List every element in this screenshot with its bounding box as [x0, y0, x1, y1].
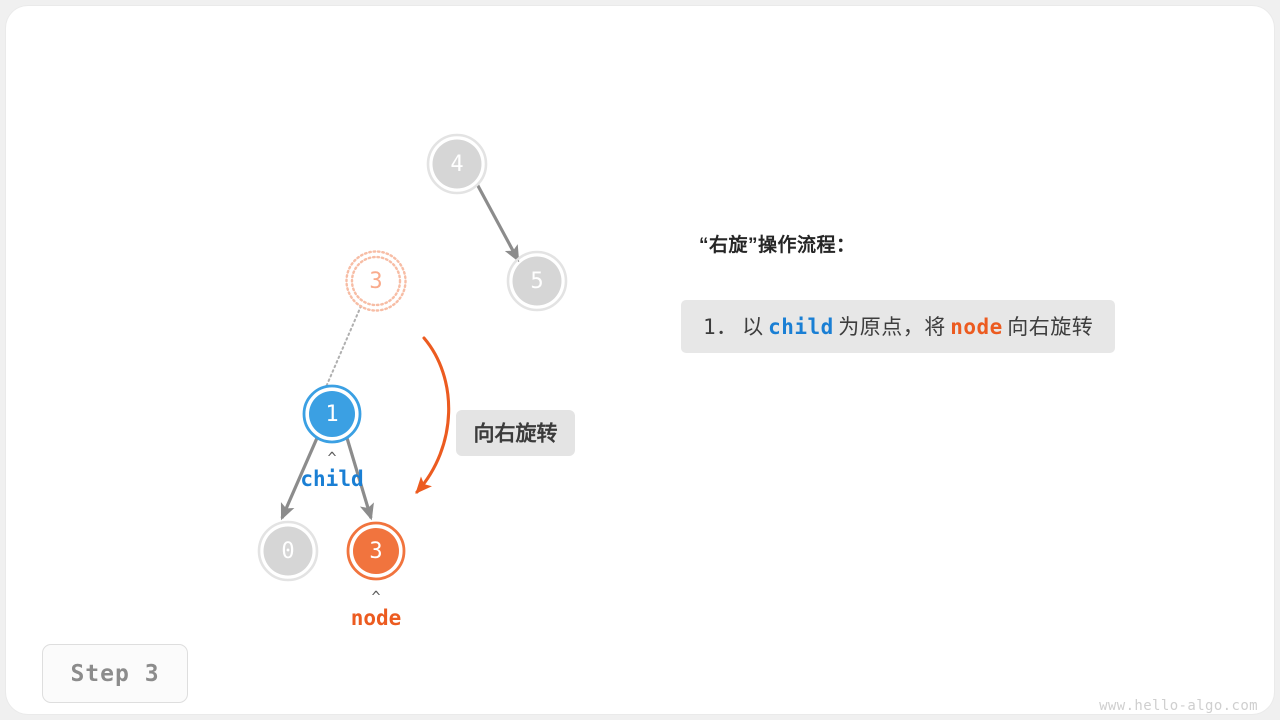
step-indicator-label: Step 3: [70, 661, 159, 687]
tree-node-0-label: 0: [281, 539, 294, 564]
rotation-badge: 向右旋转: [456, 410, 575, 456]
tree-node-4-label: 4: [450, 152, 463, 177]
site-watermark: www.hello-algo.com: [1099, 698, 1258, 714]
diagram-card: 4 5 3 1: [6, 6, 1274, 714]
pointer-node: ^ node: [351, 588, 402, 630]
tree-node-5-label: 5: [530, 269, 543, 294]
panel-title: “右旋”操作流程：: [699, 230, 1239, 257]
rotation-arrow: [417, 338, 449, 492]
step-1-part1: 以: [742, 315, 764, 339]
tree-node-4: 4: [428, 135, 486, 193]
tree-node-ghost-3-label: 3: [369, 269, 382, 294]
tree-node-3-label: 3: [369, 539, 382, 564]
pointer-child-caret-icon: ^: [327, 449, 336, 467]
step-1-keyword-node: node: [950, 315, 1003, 339]
step-1-part3: 向右旋转: [1007, 315, 1093, 339]
tree-node-5: 5: [508, 252, 566, 310]
step-indicator-box: Step 3: [42, 644, 188, 703]
step-1-index: 1．: [703, 315, 738, 339]
pointer-node-caret-icon: ^: [371, 588, 380, 606]
tree-node-1: 1: [304, 386, 360, 442]
tree-node-1-label: 1: [325, 402, 338, 427]
edge-ghost3-to-1: [326, 306, 361, 387]
pointer-node-label: node: [351, 606, 402, 630]
tree-node-ghost-3: 3: [347, 252, 406, 311]
edge-4-to-5: [477, 184, 518, 260]
rotation-badge-label: 向右旋转: [474, 422, 558, 446]
instruction-panel: “右旋”操作流程： 1． 以 child 为原点，将 node 向右旋转: [699, 230, 1239, 257]
tree-diagram-svg: 4 5 3 1: [6, 6, 1274, 714]
step-1-part2: 为原点，将: [838, 315, 946, 339]
pointer-child-label: child: [300, 467, 363, 491]
diagram-stage: 4 5 3 1: [6, 6, 1274, 714]
tree-node-3: 3: [348, 523, 404, 579]
step-1-keyword-child: child: [768, 315, 834, 339]
instruction-step-1: 1． 以 child 为原点，将 node 向右旋转: [681, 300, 1115, 353]
tree-node-0: 0: [259, 522, 317, 580]
